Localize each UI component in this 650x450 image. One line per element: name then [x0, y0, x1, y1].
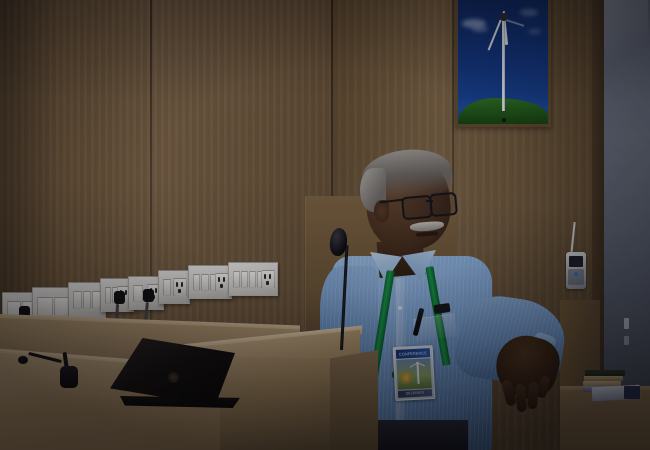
- light-switch[interactable]: [105, 287, 111, 304]
- presentation-photo: CONFERENCE DELEGATE: [0, 0, 650, 450]
- light-switch[interactable]: [163, 279, 171, 296]
- wall-socket-bank: [0, 0, 330, 340]
- turbine-mast: [502, 17, 505, 111]
- eyeglasses-lens: [401, 195, 433, 221]
- socket-hole: [220, 284, 223, 288]
- light-switch[interactable]: [201, 274, 208, 291]
- turbine-mast: [416, 362, 419, 384]
- presenter-ear: [374, 200, 389, 222]
- light-switch[interactable]: [241, 271, 248, 288]
- desk-microphone-head: [18, 356, 28, 364]
- socket-hole: [125, 290, 127, 295]
- power-socket[interactable]: [261, 270, 275, 289]
- socket-hole: [266, 281, 269, 285]
- light-switch[interactable]: [193, 274, 200, 291]
- laptop-logo: [168, 372, 179, 383]
- wall-mark: [624, 336, 629, 345]
- socket-hole: [178, 289, 181, 293]
- presenter-trousers: [368, 420, 468, 450]
- power-socket[interactable]: [215, 273, 229, 292]
- badge-artwork: [396, 358, 432, 390]
- plug: [143, 289, 154, 302]
- badge-footer-text: DELEGATE: [399, 389, 431, 398]
- socket-hole: [176, 282, 178, 287]
- light-switch[interactable]: [249, 271, 256, 288]
- wind-turbine-poster: [455, 0, 551, 127]
- plug: [114, 291, 125, 304]
- light-switch[interactable]: [233, 271, 240, 288]
- socket-hole: [181, 282, 183, 287]
- power-socket[interactable]: [173, 278, 187, 297]
- shirt-button: [398, 306, 402, 310]
- cloud-icon: [520, 9, 538, 16]
- eyeglasses-lens: [429, 192, 458, 217]
- turbine-hub: [499, 13, 508, 21]
- badge-header-text: CONFERENCE: [397, 348, 429, 359]
- wall-mark: [624, 318, 629, 329]
- socket-hole: [264, 274, 266, 279]
- socket-plate[interactable]: [228, 262, 278, 296]
- socket-hole: [269, 274, 271, 279]
- conference-badge: CONFERENCE DELEGATE: [393, 345, 436, 401]
- light-switch[interactable]: [133, 285, 143, 302]
- desk-microphone-head: [60, 366, 78, 388]
- light-switch[interactable]: [37, 297, 53, 316]
- socket-hole: [218, 277, 220, 282]
- wall-light-glint: [604, 0, 648, 70]
- socket-hole: [155, 288, 157, 293]
- eyeglasses-bridge: [426, 200, 433, 202]
- cloud-icon: [472, 26, 488, 32]
- socket-plate[interactable]: [188, 265, 232, 299]
- socket-hole: [223, 277, 225, 282]
- light-switch[interactable]: [83, 291, 92, 309]
- folder: [624, 386, 640, 399]
- sun-icon: [400, 371, 413, 384]
- poster-artwork: [458, 0, 548, 124]
- poster-tack: [502, 118, 506, 122]
- socket-plate[interactable]: [158, 270, 190, 304]
- light-switch[interactable]: [73, 291, 82, 309]
- cloud-icon: [528, 29, 541, 34]
